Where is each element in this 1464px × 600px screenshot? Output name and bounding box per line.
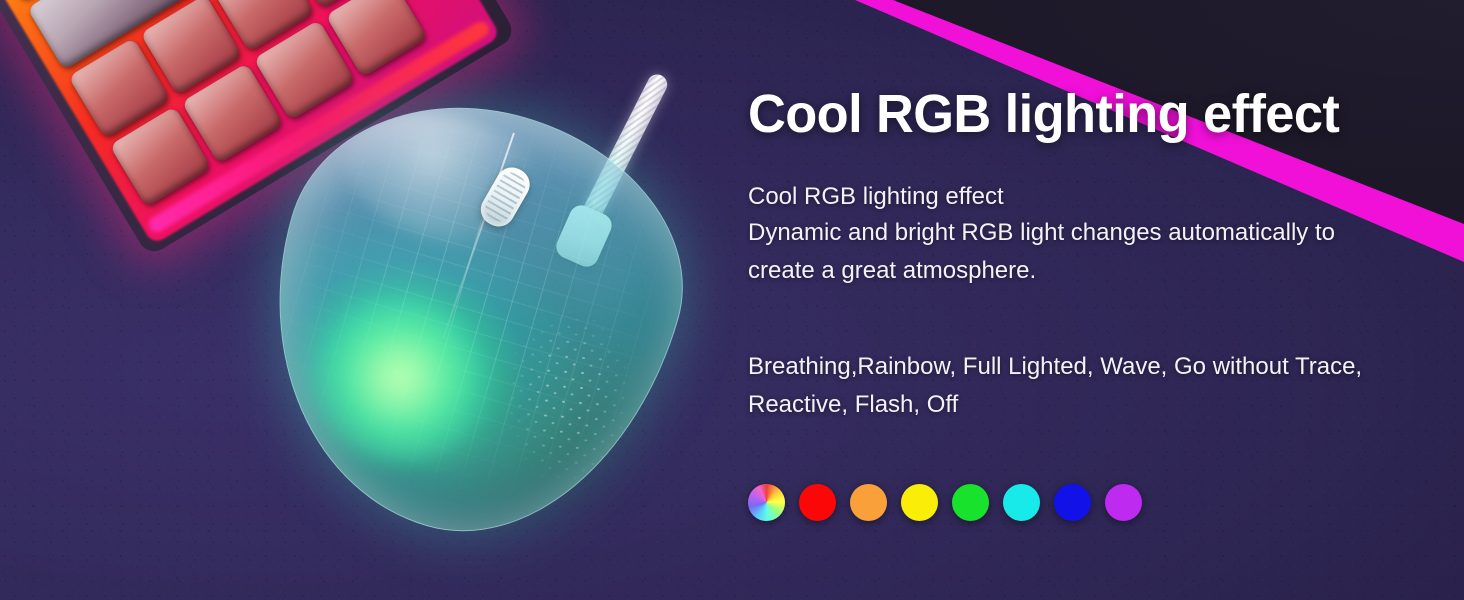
- lighting-modes-line-1: Breathing,Rainbow, Full Lighted, Wave, G…: [748, 348, 1408, 386]
- lighting-modes-paragraph: Breathing,Rainbow, Full Lighted, Wave, G…: [748, 348, 1408, 424]
- color-swatch-blue: [1054, 484, 1091, 521]
- page-title: Cool RGB lighting effect: [748, 86, 1339, 142]
- description-line-2: Dynamic and bright RGB light changes aut…: [748, 214, 1408, 252]
- color-swatch-cyan: [1003, 484, 1040, 521]
- description-line-1: Cool RGB lighting effect: [748, 180, 1408, 214]
- color-swatch-red: [799, 484, 836, 521]
- color-swatch-row: [748, 484, 1142, 521]
- color-swatch-orange: [850, 484, 887, 521]
- mouse-honeycomb-vents: [503, 304, 634, 487]
- description-line-3: create a great atmosphere.: [748, 252, 1408, 290]
- text-panel: Cool RGB lighting effect Cool RGB lighti…: [748, 0, 1448, 600]
- color-swatch-rainbow: [748, 484, 785, 521]
- color-swatch-yellow: [901, 484, 938, 521]
- color-swatch-purple: [1105, 484, 1142, 521]
- description-paragraph: Cool RGB lighting effect Dynamic and bri…: [748, 180, 1408, 290]
- color-swatch-green: [952, 484, 989, 521]
- transparent-rgb-gaming-mouse: [240, 60, 740, 560]
- lighting-modes-line-2: Reactive, Flash, Off: [748, 386, 1408, 424]
- product-banner: 6 + ↵: [0, 0, 1464, 600]
